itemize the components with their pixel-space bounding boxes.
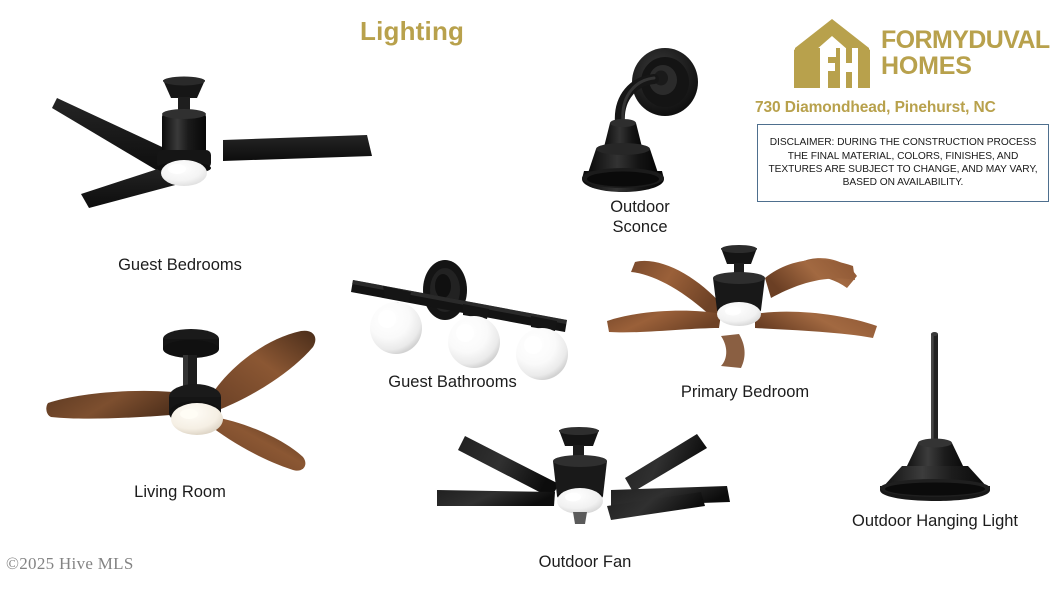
page-title: Lighting: [360, 16, 600, 47]
brand-block: FORMYDUVAL HOMES: [793, 18, 1059, 98]
caption-guest-bedrooms: Guest Bedrooms: [55, 255, 305, 275]
fixture-image-outdoor-sconce[interactable]: [580, 45, 710, 195]
disclaimer-box: DISCLAIMER: DURING THE CONSTRUCTION PROC…: [757, 124, 1049, 202]
fixture-image-guest-bathrooms[interactable]: [335, 258, 570, 368]
caption-outdoor-fan: Outdoor Fan: [465, 552, 705, 572]
caption-guest-bathrooms: Guest Bathrooms: [335, 372, 570, 392]
brand-name: FORMYDUVAL HOMES: [881, 28, 1050, 79]
fixture-image-guest-bedrooms[interactable]: [45, 78, 375, 238]
mls-watermark: ©2025 Hive MLS: [6, 554, 134, 574]
fixture-image-primary-bedroom[interactable]: [605, 248, 880, 370]
property-address: 730 Diamondhead, Pinehurst, NC: [755, 99, 1060, 117]
caption-primary-bedroom: Primary Bedroom: [620, 382, 870, 402]
fixture-image-outdoor-fan[interactable]: [435, 428, 735, 538]
caption-outdoor-sconce-line2: Sconce: [575, 217, 705, 237]
lighting-selection-board: Lighting FORMYDUVAL HOMES 730 Diamondhea…: [0, 0, 1064, 594]
fixture-image-outdoor-hanging-light[interactable]: [860, 330, 1020, 500]
caption-living-room: Living Room: [70, 482, 290, 502]
caption-outdoor-hanging-light: Outdoor Hanging Light: [820, 511, 1050, 531]
fixture-image-living-room[interactable]: [45, 325, 325, 475]
house-fh-logo-icon: [793, 18, 871, 90]
brand-name-line1: FORMYDUVAL: [881, 28, 1050, 53]
brand-name-line2: HOMES: [881, 53, 1050, 79]
disclaimer-text: DISCLAIMER: DURING THE CONSTRUCTION PROC…: [758, 136, 1048, 190]
caption-outdoor-sconce-line1: Outdoor: [575, 197, 705, 217]
